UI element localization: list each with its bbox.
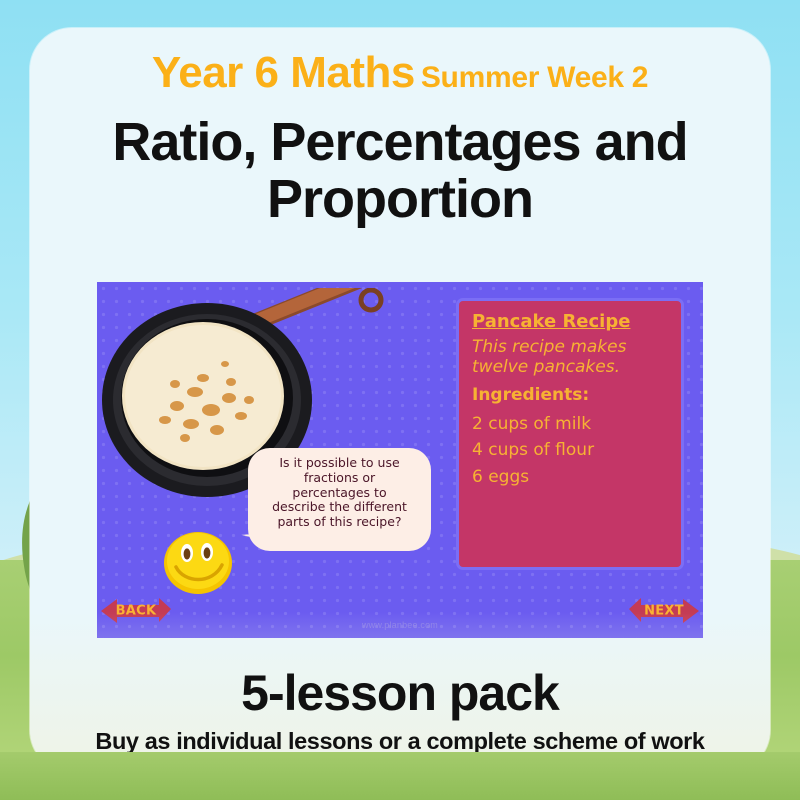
speech-bubble-line: fractions or [258,471,421,486]
recipe-card: Pancake Recipe This recipe makes twelve … [456,298,684,570]
ingredients-heading: Ingredients: [472,385,668,405]
speech-bubble-line: Is it possible to use [258,456,421,471]
lesson-slide-preview[interactable]: Is it possible to use fractions or perce… [97,282,703,638]
ingredient-item: 6 eggs [472,464,668,490]
kicker-heading: Year 6 MathsSummer Week 2 [30,48,770,98]
page-title: Ratio, Percentages and Proportion [54,114,746,228]
kicker-primary: Year 6 Maths [152,48,415,97]
recipe-subtitle: This recipe makes twelve pancakes. [472,338,668,377]
content-card: Year 6 MathsSummer Week 2 Ratio, Percent… [30,28,770,772]
speech-bubble-line: parts of this recipe? [258,515,421,530]
grass-strip [0,752,800,800]
pack-title: 5-lesson pack [30,664,770,722]
product-thumbnail: Year 6 MathsSummer Week 2 Ratio, Percent… [0,0,800,800]
pack-subtitle: Buy as individual lessons or a complete … [30,728,770,755]
recipe-title: Pancake Recipe [472,311,668,332]
smiley-face-icon [162,529,234,595]
speech-bubble: Is it possible to use fractions or perce… [248,448,431,551]
speech-bubble-line: describe the different [258,500,421,515]
kicker-secondary: Summer Week 2 [421,61,648,94]
ingredient-item: 4 cups of flour [472,437,668,463]
ingredient-item: 2 cups of milk [472,411,668,437]
speech-bubble-line: percentages to [258,486,421,501]
